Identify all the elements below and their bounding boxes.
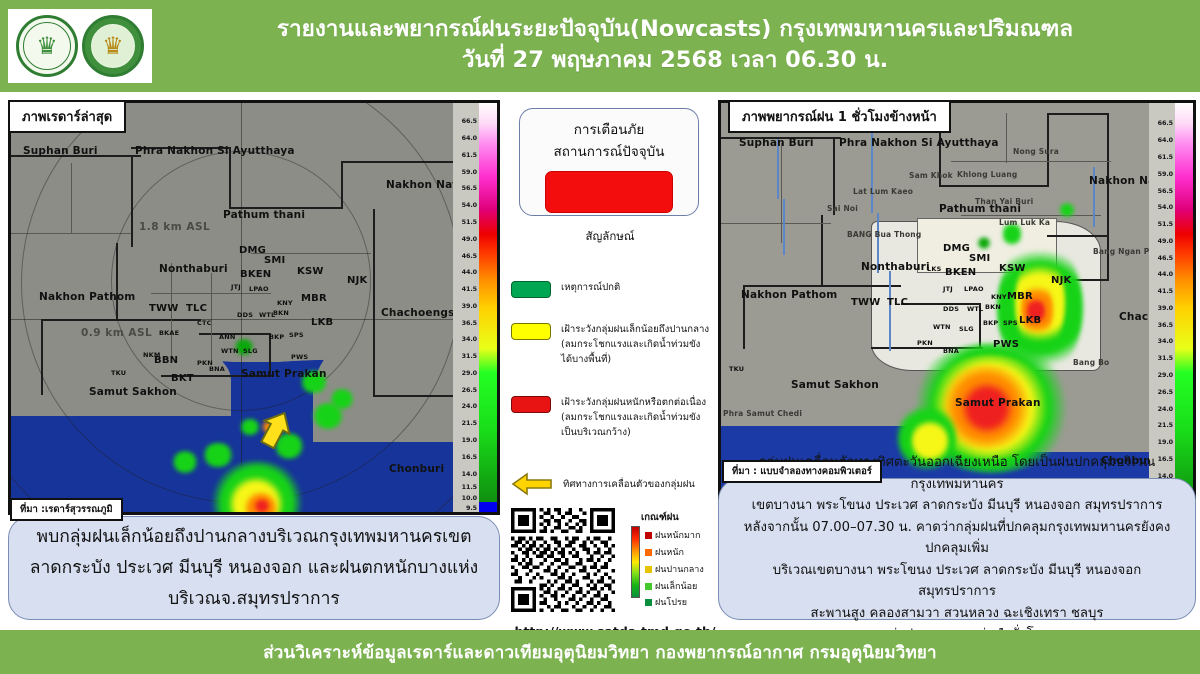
- place-label-phra-samut-chedi: Phra Samut Chedi: [723, 409, 802, 418]
- legend-row-yellow: เฝ้าระวังกลุ่มฝนเล็กน้อยถึงปานกลาง (ลมกร…: [511, 322, 715, 367]
- district-code-tku: TKU: [729, 365, 744, 373]
- qr-code[interactable]: [511, 508, 615, 612]
- boundary-line: [1047, 235, 1109, 237]
- echo-cell: [171, 451, 199, 473]
- legend-row-red: เฝ้าระวังกลุ่มฝนหนักหรือตกต่อเนื่อง (ลมก…: [511, 395, 715, 440]
- place-label-nong-sura: Nong Sura: [1013, 147, 1059, 156]
- district-code-ksw: KSW: [297, 266, 324, 277]
- legend-label-yellow: เฝ้าระวังกลุ่มฝนเล็กน้อยถึงปานกลาง (ลมกร…: [561, 322, 709, 367]
- district-code-ksw: KSW: [999, 263, 1026, 274]
- echo-cell: [201, 443, 235, 467]
- district-code-bbn: BBN: [154, 355, 178, 366]
- district-code-dds: DDS: [943, 305, 959, 313]
- province-label-suphan-buri: Suphan Buri: [739, 137, 814, 149]
- district-code-bkae: BKAE: [159, 329, 179, 337]
- legend-row-normal: เหตุการณ์ปกติ: [511, 280, 715, 298]
- agency-logos: ♛ ♛: [8, 9, 152, 83]
- province-label-chachoengsao: Chachoengsao: [381, 307, 453, 319]
- district-code-bken: BKEN: [240, 269, 271, 280]
- district-code-slg: SLG: [959, 325, 974, 333]
- range-ring-label-18: 1.8 km ASL: [139, 221, 210, 233]
- district-code-lpao: LPAO: [964, 285, 984, 293]
- province-label-nonthaburi: Nonthaburi: [159, 263, 228, 275]
- warning-level-swatch: [545, 171, 673, 213]
- province-label-samut-prakan: Samut Prakan: [955, 397, 1041, 409]
- place-label-lat-lum-kaeo: Lat Lum Kaeo: [853, 187, 913, 196]
- legend-row-arrow: ทิศทางการเคลื่อนตัวของกลุ่มฝน: [511, 472, 715, 496]
- footer-text: ส่วนวิเคราะห์ข้อมูลเรดาร์และดาวเทียมอุตุ…: [263, 639, 937, 666]
- district-code-lks: LKS: [927, 265, 941, 273]
- district-code-bkt: BKT: [171, 373, 194, 384]
- province-label-nakhon-pathom: Nakhon Pathom: [39, 291, 135, 303]
- district-code-mbr: MBR: [301, 293, 327, 304]
- legend-arrow-left-icon: [511, 472, 553, 496]
- title-line-2: วันที่ 27 พฤษภาคม 2568 เวลา 06.30 น.: [160, 45, 1190, 76]
- district-code-lkb: LKB: [1019, 315, 1041, 326]
- summary-line: พบกลุ่มฝนเล็กน้อยถึงปานกลางบริเวณกรุงเทพ…: [37, 522, 472, 553]
- page-title: รายงานและพยากรณ์ฝนระยะปัจจุบัน(Nowcasts)…: [160, 14, 1190, 76]
- summary-line: เขตบางนา พระโขนง ประเวศ ลาดกระบัง มีนบุร…: [752, 495, 1163, 517]
- reflectivity-colorbar-right: 66.5 64.0 61.5 59.0 56.5 54.0 51.5 49.0 …: [1149, 103, 1193, 512]
- rain-forecast-map[interactable]: Suphan Buri Phra Nakhon Si Ayutthaya Nak…: [721, 103, 1149, 512]
- boundary-line: [1047, 113, 1107, 115]
- colorbar-gradient-left: [479, 103, 497, 512]
- district-code-sps: SPS: [289, 331, 304, 339]
- river-line: [783, 199, 785, 255]
- radar-latest-map[interactable]: 1.8 km ASL 0.9 km ASL Suphan Buri Phra N…: [11, 103, 453, 512]
- district-code-bkn: BKN: [273, 309, 289, 317]
- district-code-pws: PWS: [291, 353, 308, 361]
- boundary-line: [939, 185, 1047, 187]
- colorbar-gradient-right: [1175, 103, 1193, 512]
- district-code-bken: BKEN: [945, 267, 976, 278]
- radar-crosshair-vertical: [241, 103, 242, 512]
- rain-scale-item: ฝนหนัก: [645, 545, 684, 559]
- province-label-samut-sakhon: Samut Sakhon: [791, 379, 879, 391]
- district-code-lpao: LPAO: [249, 285, 269, 293]
- province-label-chachoengsao: Chachoengsao: [1119, 311, 1149, 323]
- place-label-than-yai-buri: Than Yai Buri: [975, 197, 1033, 206]
- province-label-pathum-thani: Pathum thani: [223, 209, 305, 221]
- left-panel-title-chip: ภาพเรดาร์ล่าสุด: [8, 100, 126, 133]
- district-code-tku: TKU: [111, 369, 126, 377]
- legend-column: การเตือนภัย สถานการณ์ปัจจุบัน สัญลักษณ์ …: [505, 100, 715, 630]
- page-header: ♛ ♛ รายงานและพยากรณ์ฝนระยะปัจจุบัน(Nowca…: [0, 0, 1200, 92]
- warning-title-line-1: การเตือนภัย: [520, 119, 698, 141]
- left-panel-summary-bubble: พบกลุ่มฝนเล็กน้อยถึงปานกลางบริเวณกรุงเทพ…: [8, 516, 500, 620]
- right-panel-source-chip: ที่มา : แบบจำลองทางคอมพิวเตอร์: [722, 460, 882, 483]
- district-code-dmg: DMG: [239, 245, 266, 256]
- place-label-sam-khok: Sam Khok: [909, 171, 953, 180]
- province-label-chonburi: Chonburi: [389, 463, 444, 475]
- river-line: [889, 271, 891, 351]
- rain-scale-item: ฝนปานกลาง: [645, 562, 704, 576]
- district-code-kny: KNY: [991, 293, 1007, 301]
- province-label-nakhon-pathom: Nakhon Pathom: [741, 289, 837, 301]
- boundary-minor: [961, 215, 1101, 216]
- province-label-nakhon-nayok: Nakhon Nayok: [386, 179, 453, 191]
- legend-label-normal: เหตุการณ์ปกติ: [561, 280, 620, 298]
- tmd-emblem-left-icon: ♛: [16, 15, 78, 77]
- title-line-1: รายงานและพยากรณ์ฝนระยะปัจจุบัน(Nowcasts)…: [160, 14, 1190, 45]
- boundary-minor: [721, 223, 831, 224]
- summary-line: บริเวณเขตบางนา พระโขนง ประเวศ ลาดกระบัง …: [733, 560, 1181, 603]
- district-code-bkp: BKP: [269, 333, 284, 341]
- qr-and-rain-scale: เกณฑ์ฝน ฝนหนักมาก ฝนหนัก ฝนปานกลาง ฝนเล็…: [511, 508, 715, 616]
- place-label-sai-noi: Sai Noi: [827, 204, 858, 213]
- rain-scale-title: เกณฑ์ฝน: [641, 510, 719, 525]
- district-code-wtl: WTL: [967, 305, 983, 313]
- district-code-smi: SMI: [969, 253, 990, 264]
- radar-latest-panel[interactable]: 1.8 km ASL 0.9 km ASL Suphan Buri Phra N…: [8, 100, 500, 515]
- district-code-njk: NJK: [347, 275, 367, 286]
- colorbar-ticks-right: 66.5 64.0 61.5 59.0 56.5 54.0 51.5 49.0 …: [1149, 103, 1175, 512]
- echo-cell: [311, 403, 345, 429]
- summary-line: สะพานสูง คลองสามวา สวนหลวง ฉะเชิงเทรา ชล…: [811, 603, 1104, 625]
- province-label-suphan-buri: Suphan Buri: [23, 145, 98, 157]
- boundary-minor: [1006, 113, 1007, 163]
- rain-scale-gradient: [631, 526, 640, 598]
- district-code-tww: TWW: [851, 297, 880, 308]
- district-code-sps: SPS: [1003, 319, 1018, 327]
- province-label-nonthaburi: Nonthaburi: [861, 261, 930, 273]
- district-code-jtj: JTJ: [231, 283, 241, 291]
- district-code-dds: DDS: [237, 311, 253, 319]
- district-code-bkp: BKP: [983, 319, 998, 327]
- district-code-jtj: JTJ: [943, 285, 953, 293]
- district-code-dmg: DMG: [943, 243, 970, 254]
- place-label-khlong-luang: Khlong Luang: [957, 170, 1017, 179]
- summary-line: ลาดกระบัง ประเวศ มีนบุรี หนองจอก และฝนตก…: [30, 553, 478, 584]
- province-label-ayutthaya: Phra Nakhon Si Ayutthaya: [135, 145, 295, 157]
- storm-direction-arrow-icon: [259, 409, 293, 449]
- boundary-line: [743, 285, 901, 287]
- boundary-minor: [781, 143, 782, 243]
- reflectivity-colorbar-left: 66.5 64.0 61.5 59.0 56.5 54.0 51.5 49.0 …: [453, 103, 497, 512]
- rain-intensity-scale: เกณฑ์ฝน ฝนหนักมาก ฝนหนัก ฝนปานกลาง ฝนเล็…: [631, 510, 719, 527]
- district-code-tlc: TLC: [887, 297, 908, 308]
- echo-cell: [239, 419, 261, 435]
- right-panel-title-chip: ภาพพยากรณ์ฝน 1 ชั่วโมงข้างหน้า: [728, 100, 951, 133]
- echo-core-extreme: [253, 499, 271, 512]
- province-label-samut-prakan: Samut Prakan: [241, 368, 327, 380]
- district-code-ann: ANN: [219, 333, 236, 341]
- district-code-njk: NJK: [1051, 275, 1071, 286]
- colorbar-ticks-left: 66.5 64.0 61.5 59.0 56.5 54.0 51.5 49.0 …: [453, 103, 479, 512]
- echo-cell: [977, 237, 991, 249]
- district-code-ctc: CTC: [197, 319, 212, 327]
- warning-title-line-2: สถานการณ์ปัจจุบัน: [520, 141, 698, 163]
- place-label-bang-bua-thong: BANG Bua Thong: [847, 230, 921, 239]
- province-label-ayutthaya: Phra Nakhon Si Ayutthaya: [839, 137, 999, 149]
- place-label-bang-bo: Bang Bo: [1073, 358, 1109, 367]
- rain-scale-item: ฝนโปรย: [645, 595, 687, 609]
- rain-scale-item: ฝนเล็กน้อย: [645, 579, 697, 593]
- district-code-bna: BNA: [943, 347, 959, 355]
- district-code-pkn: PKN: [917, 339, 933, 347]
- echo-cell: [1059, 203, 1075, 217]
- page-footer: ส่วนวิเคราะห์ข้อมูลเรดาร์และดาวเทียมอุตุ…: [0, 630, 1200, 674]
- rain-scale-item: ฝนหนักมาก: [645, 528, 700, 542]
- district-code-wtn: WTN: [221, 347, 239, 355]
- legend-swatch-yellow: [511, 323, 551, 340]
- left-panel-source-chip: ที่มา :เรดาร์สุวรรณภูมิ: [10, 498, 123, 521]
- radar-crosshair-horizontal: [11, 319, 453, 320]
- boundary-line: [821, 215, 823, 285]
- province-label-samut-sakhon: Samut Sakhon: [89, 386, 177, 398]
- district-code-kny: KNY: [277, 299, 293, 307]
- district-code-mbr: MBR: [1007, 291, 1033, 302]
- boundary-minor: [951, 161, 1111, 162]
- legend-label-red: เฝ้าระวังกลุ่มฝนหนักหรือตกต่อเนื่อง (ลมก…: [561, 395, 706, 440]
- district-code-tww: TWW: [149, 303, 178, 314]
- tmd-emblem-right-icon: ♛: [82, 15, 144, 77]
- district-code-tlc: TLC: [186, 303, 207, 314]
- district-code-smi: SMI: [264, 255, 285, 266]
- place-label-bang-ngan-phao: Bang Ngan Phao: [1093, 247, 1149, 256]
- summary-line: หลังจากนั้น 07.00–07.30 น. คาดว่ากลุ่มฝน…: [733, 517, 1181, 560]
- district-code-bkn: BKN: [985, 303, 1001, 311]
- district-code-lkb: LKB: [311, 317, 333, 328]
- summary-line: บริเวณจ.สมุทรปราการ: [168, 584, 340, 615]
- legend-swatch-green: [511, 281, 551, 298]
- right-panel-summary-bubble: กลุ่มฝนเคลื่อนตัวทางทิศตะวันออกเฉียงเหนื…: [718, 478, 1196, 620]
- province-label-nakhon-nayok: Nakhon Nayok: [1089, 175, 1149, 187]
- district-code-pws: PWS: [993, 339, 1019, 350]
- range-ring-label-09: 0.9 km ASL: [81, 327, 152, 339]
- district-code-wtn: WTN: [933, 323, 951, 331]
- district-code-pkn: PKN: [197, 359, 213, 367]
- place-label-lum-luk-ka: Lum Luk Ka: [999, 218, 1050, 227]
- current-warning-box: การเตือนภัย สถานการณ์ปัจจุบัน: [519, 108, 699, 216]
- legend-heading: สัญลักษณ์: [505, 228, 715, 246]
- legend-label-arrow: ทิศทางการเคลื่อนตัวของกลุ่มฝน: [563, 477, 695, 492]
- legend-swatch-red: [511, 396, 551, 413]
- district-code-slg: SLG: [243, 347, 258, 355]
